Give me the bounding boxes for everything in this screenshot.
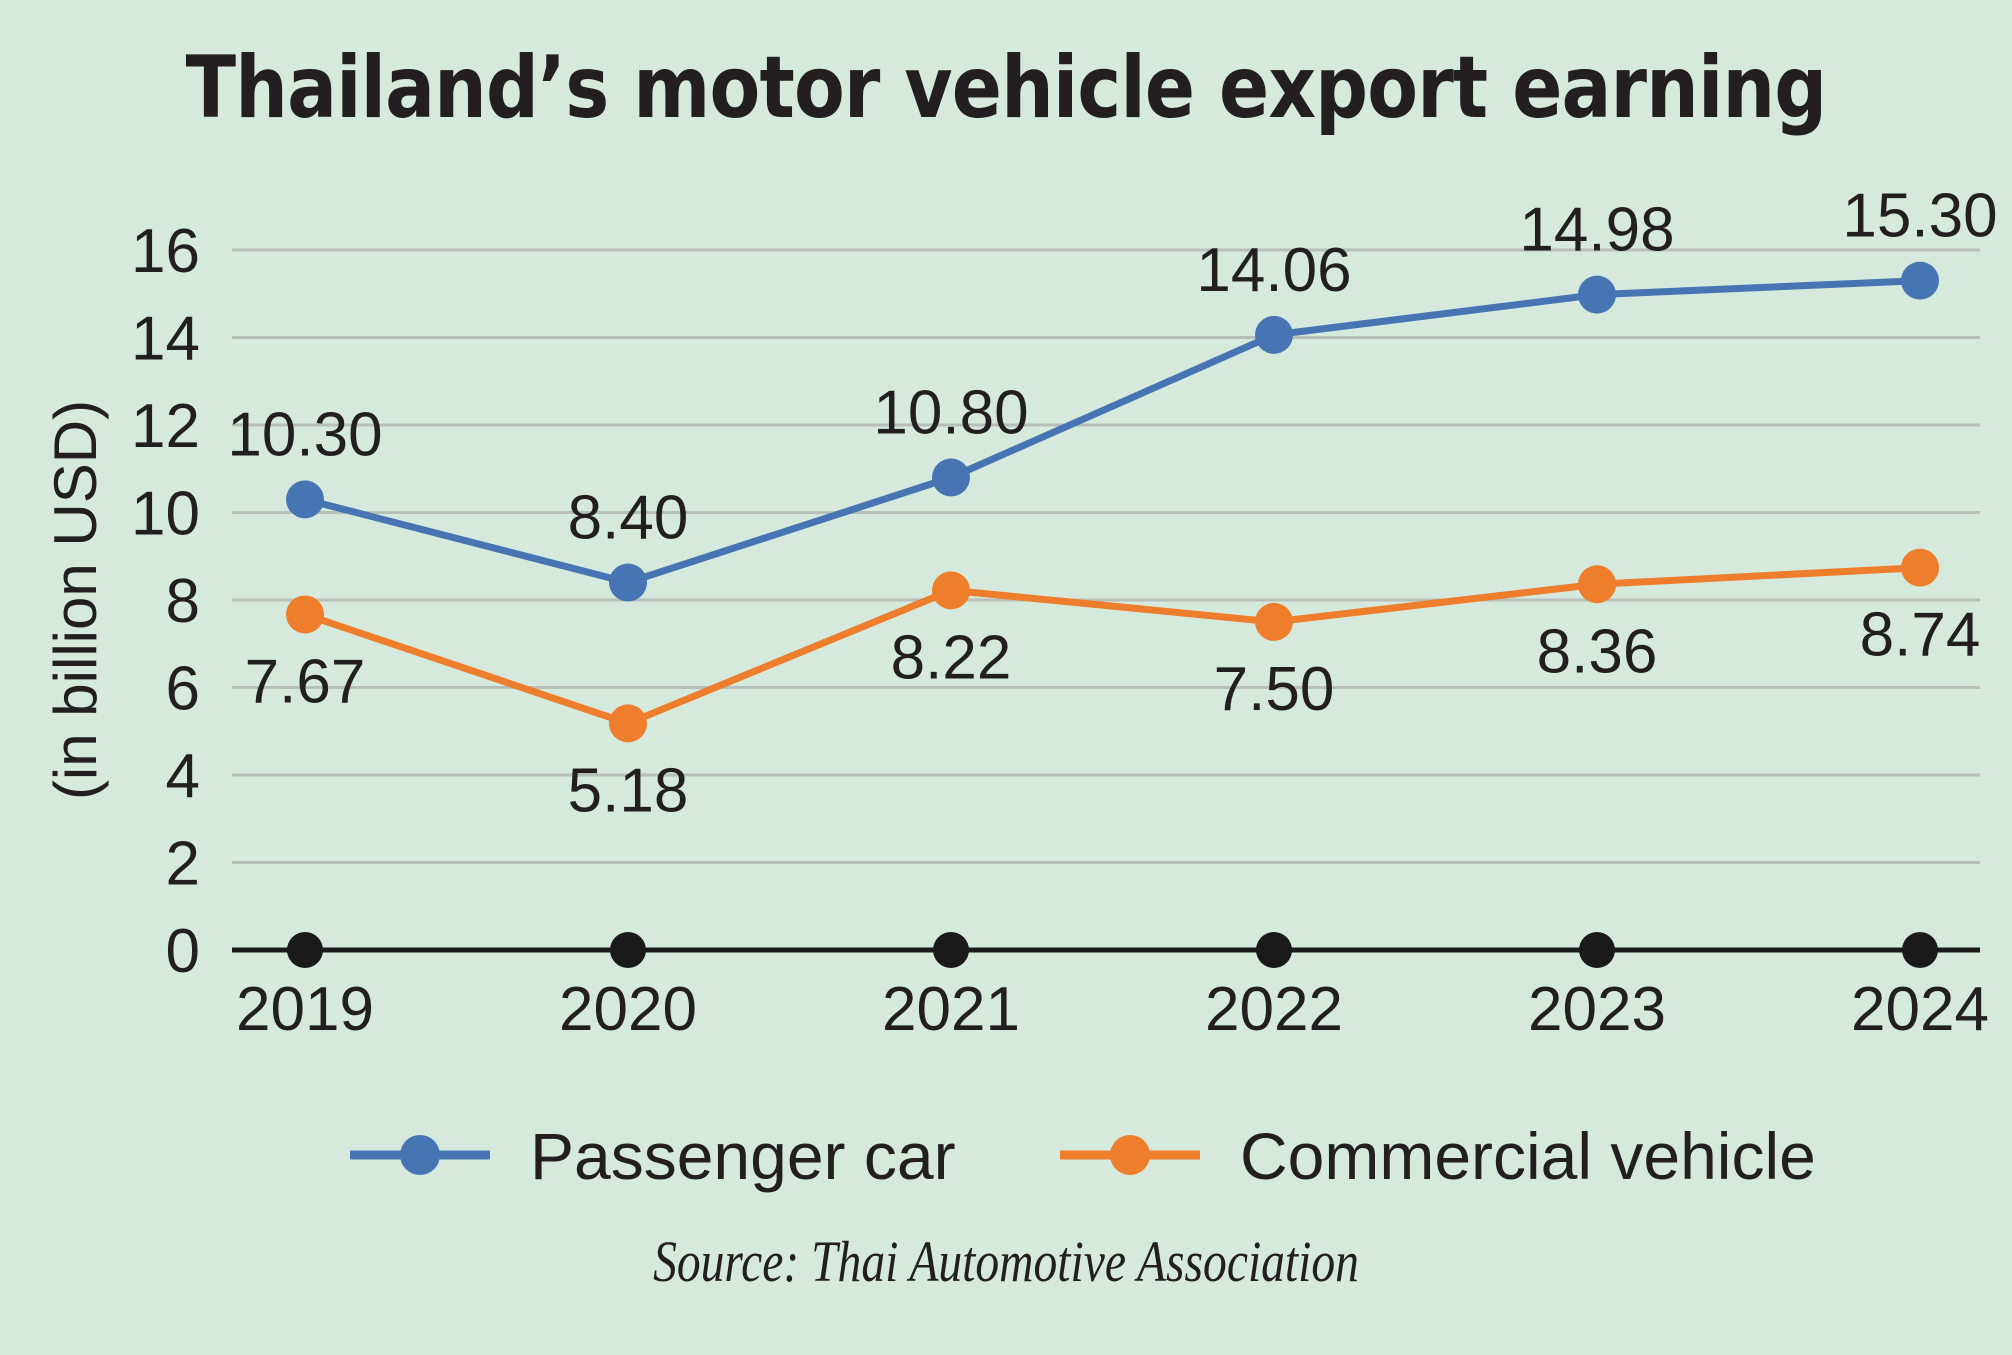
data-point-marker[interactable] — [1901, 262, 1939, 300]
x-axis-tick-label: 2024 — [1851, 975, 1989, 1044]
data-point-labels-group: 10.308.4010.8014.0614.9815.307.675.188.2… — [227, 182, 1997, 826]
data-point-label: 5.18 — [568, 756, 689, 825]
series-line-1 — [305, 281, 1920, 583]
data-point-marker[interactable] — [1901, 549, 1939, 587]
data-point-label: 7.67 — [245, 647, 366, 716]
data-point-marker[interactable] — [932, 571, 970, 609]
y-axis-tick-label: 14 — [131, 305, 200, 374]
data-point-label: 8.22 — [891, 623, 1012, 692]
baseline-marker — [610, 932, 646, 968]
data-point-marker[interactable] — [932, 459, 970, 497]
legend-swatch-marker — [1110, 1135, 1150, 1175]
x-axis-tick-label: 2023 — [1528, 975, 1666, 1044]
data-point-marker[interactable] — [609, 704, 647, 742]
series-line-2 — [305, 568, 1920, 724]
data-point-label: 10.80 — [873, 379, 1028, 448]
x-axis-tick-label: 2019 — [236, 975, 374, 1044]
data-point-marker[interactable] — [286, 595, 324, 633]
x-axis-tick-labels: 201920202021202220232024 — [236, 975, 1989, 1044]
baseline-marker — [933, 932, 969, 968]
data-point-label: 8.36 — [1537, 617, 1658, 686]
y-axis-tick-label: 6 — [166, 655, 200, 724]
data-point-label: 14.98 — [1519, 196, 1674, 265]
baseline-marker — [1579, 932, 1615, 968]
chart-legend: Passenger carCommercial vehicle — [350, 1119, 1816, 1193]
data-point-marker[interactable] — [609, 564, 647, 602]
line-chart-plot: 0246810121416 201920202021202220232024 1… — [0, 0, 2012, 1355]
baseline-marker — [1902, 932, 1938, 968]
x-axis-tick-label: 2020 — [559, 975, 697, 1044]
legend-swatch-marker — [400, 1135, 440, 1175]
y-axis-tick-label: 10 — [131, 480, 200, 549]
series-points-group — [286, 262, 1939, 743]
y-axis-tick-labels: 0246810121416 — [131, 217, 200, 986]
data-point-label: 14.06 — [1196, 236, 1351, 305]
baseline-marker — [1256, 932, 1292, 968]
x-axis-baseline — [232, 932, 1980, 968]
y-axis-tick-label: 12 — [131, 392, 200, 461]
data-point-marker[interactable] — [1578, 276, 1616, 314]
y-axis-tick-label: 4 — [166, 742, 200, 811]
gridlines-group — [232, 250, 1980, 863]
y-axis-tick-label: 8 — [166, 567, 200, 636]
data-point-marker[interactable] — [286, 480, 324, 518]
data-point-marker[interactable] — [1255, 316, 1293, 354]
chart-container: Thailand’s motor vehicle export earning … — [0, 0, 2012, 1355]
data-point-marker[interactable] — [1578, 565, 1616, 603]
x-axis-tick-label: 2022 — [1205, 975, 1343, 1044]
source-note: Source: Thai Automotive Association — [181, 1228, 1831, 1295]
y-axis-tick-label: 16 — [131, 217, 200, 286]
data-point-label: 8.40 — [568, 484, 689, 553]
data-point-label: 8.74 — [1860, 601, 1981, 670]
data-point-label: 7.50 — [1214, 655, 1335, 724]
y-axis-title: (in billion USD) — [42, 400, 109, 800]
data-point-marker[interactable] — [1255, 603, 1293, 641]
x-axis-tick-label: 2021 — [882, 975, 1020, 1044]
legend-item-label[interactable]: Passenger car — [530, 1119, 956, 1193]
data-point-label: 15.30 — [1842, 182, 1997, 251]
y-axis-tick-label: 0 — [166, 917, 200, 986]
baseline-marker — [287, 932, 323, 968]
y-axis-tick-label: 2 — [166, 830, 200, 899]
legend-item-label[interactable]: Commercial vehicle — [1240, 1119, 1816, 1193]
series-lines-group — [305, 281, 1920, 724]
data-point-label: 10.30 — [227, 400, 382, 469]
